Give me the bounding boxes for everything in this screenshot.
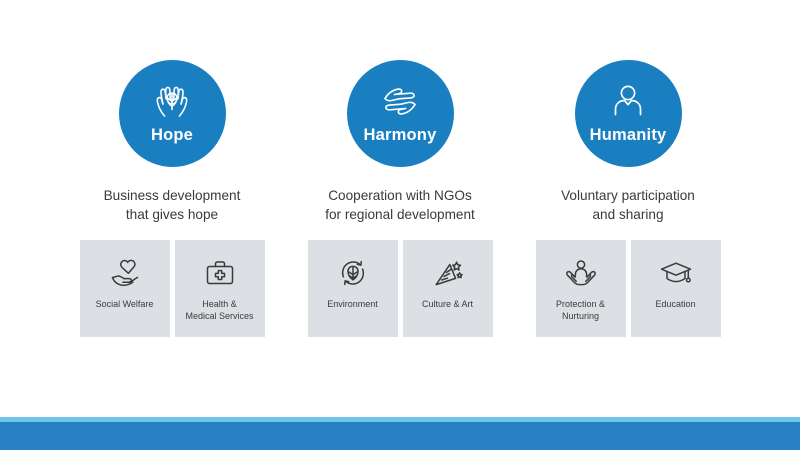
pillar-label: Hope <box>151 127 193 144</box>
tile-label: Health & Medical Services <box>181 299 257 322</box>
tile-group-harmony: Environment Culture & Art <box>286 240 514 337</box>
tile-label: Environment <box>323 299 382 311</box>
party-popper-icon <box>431 256 465 290</box>
tile-label: Culture & Art <box>418 299 477 311</box>
tiles-row: Social Welfare Health & Medical Services <box>0 240 800 337</box>
pillar-description: Business development that gives hope <box>104 186 241 224</box>
tile-protection-nurturing[interactable]: Protection & Nurturing <box>536 240 626 337</box>
tile-education[interactable]: Education <box>631 240 721 337</box>
tile-label: Social Welfare <box>92 299 158 311</box>
tile-environment[interactable]: Environment <box>308 240 398 337</box>
pillar-harmony: Harmony Cooperation with NGOs for region… <box>286 60 514 224</box>
pillar-description: Voluntary participation and sharing <box>561 186 695 224</box>
slide-canvas: Hope Business development that gives hop… <box>0 0 800 450</box>
tile-social-welfare[interactable]: Social Welfare <box>80 240 170 337</box>
tile-group-humanity: Protection & Nurturing Education <box>514 240 742 337</box>
pillars-row: Hope Business development that gives hop… <box>0 60 800 224</box>
footer-dark-bar <box>0 422 800 450</box>
tile-culture-art[interactable]: Culture & Art <box>403 240 493 337</box>
tile-label: Education <box>651 299 699 311</box>
leaf-recycle-icon <box>336 256 370 290</box>
pillar-label: Humanity <box>590 127 667 144</box>
two-hands-reaching-icon <box>377 80 423 122</box>
hand-heart-icon <box>108 256 142 290</box>
medical-kit-icon <box>203 256 237 290</box>
pillar-circle-harmony[interactable]: Harmony <box>347 60 454 167</box>
pillar-hope: Hope Business development that gives hop… <box>58 60 286 224</box>
hands-cradling-person-icon <box>564 256 598 290</box>
tile-group-hope: Social Welfare Health & Medical Services <box>58 240 286 337</box>
graduation-cap-icon <box>659 256 693 290</box>
pillar-circle-humanity[interactable]: Humanity <box>575 60 682 167</box>
tile-label: Protection & Nurturing <box>552 299 609 322</box>
pillar-description: Cooperation with NGOs for regional devel… <box>325 186 475 224</box>
pillar-label: Harmony <box>364 127 437 144</box>
hands-holding-sprout-icon <box>149 80 195 122</box>
pillar-circle-hope[interactable]: Hope <box>119 60 226 167</box>
person-bust-icon <box>605 80 651 122</box>
pillar-humanity: Humanity Voluntary participation and sha… <box>514 60 742 224</box>
tile-health-medical-services[interactable]: Health & Medical Services <box>175 240 265 337</box>
